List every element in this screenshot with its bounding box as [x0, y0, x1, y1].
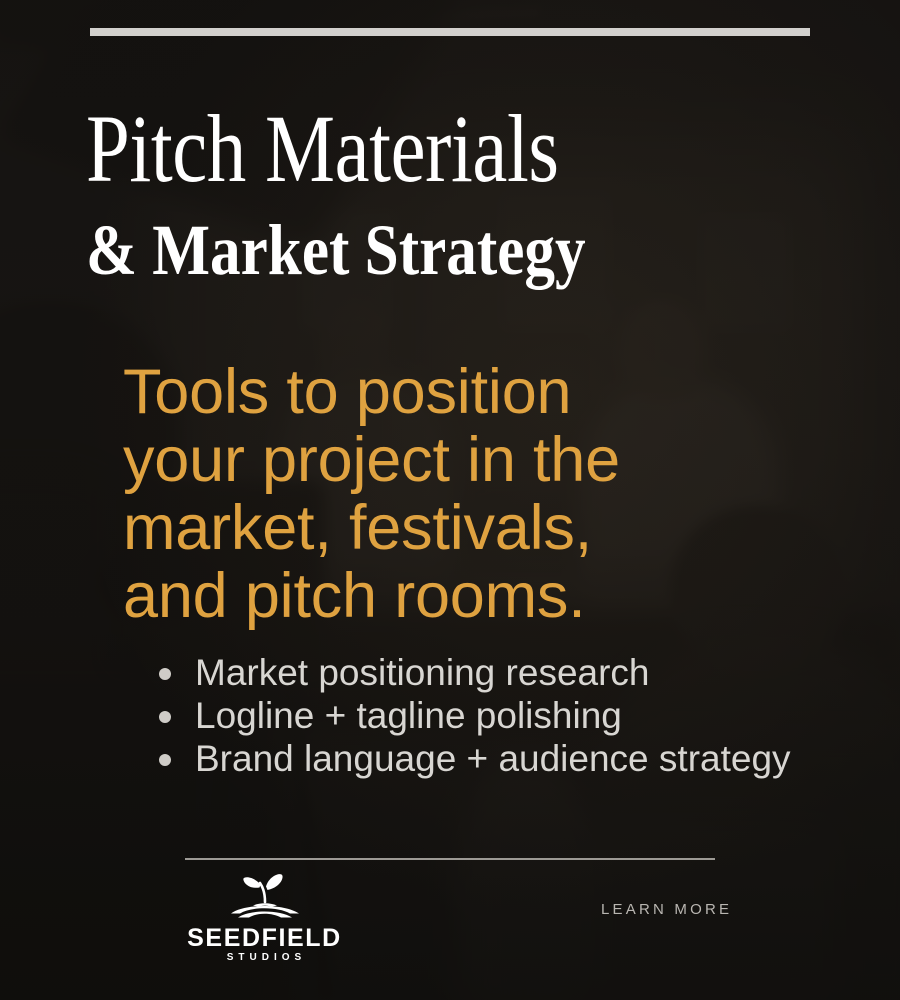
lead-paragraph: Tools to position your project in the ma…	[123, 358, 823, 630]
list-item-label: Market positioning research	[195, 652, 650, 693]
lead-line: Tools to position	[123, 358, 823, 426]
lead-line: market, festivals,	[123, 494, 823, 562]
learn-more-link[interactable]: LEARN MORE	[601, 901, 732, 918]
page-title: Pitch Materials	[86, 101, 734, 197]
list-item: Market positioning research	[155, 652, 855, 694]
feature-list: Market positioning research Logline + ta…	[155, 652, 855, 781]
page-subtitle: & Market Strategy	[86, 214, 758, 286]
lead-line: and pitch rooms.	[123, 562, 823, 630]
list-item: Logline + tagline polishing	[155, 695, 855, 737]
poster-canvas: Pitch Materials & Market Strategy Tools …	[0, 0, 900, 1000]
poster-content: Pitch Materials & Market Strategy Tools …	[0, 0, 900, 1000]
bullet-dot-icon	[159, 711, 171, 723]
footer-divider	[185, 858, 715, 860]
lead-line: your project in the	[123, 426, 823, 494]
list-item-label: Logline + tagline polishing	[195, 695, 622, 736]
brand-tagline: STUDIOS	[172, 951, 357, 965]
list-item: Brand language + audience strategy	[155, 738, 855, 780]
brand-logo[interactable]: SEEDFIELD STUDIOS	[172, 872, 357, 965]
seedling-sprout-field-icon	[172, 872, 357, 923]
bullet-dot-icon	[159, 668, 171, 680]
list-item-label: Brand language + audience strategy	[195, 738, 791, 779]
top-accent-rule	[90, 28, 810, 36]
brand-name: SEEDFIELD	[172, 925, 357, 951]
bullet-dot-icon	[159, 754, 171, 766]
